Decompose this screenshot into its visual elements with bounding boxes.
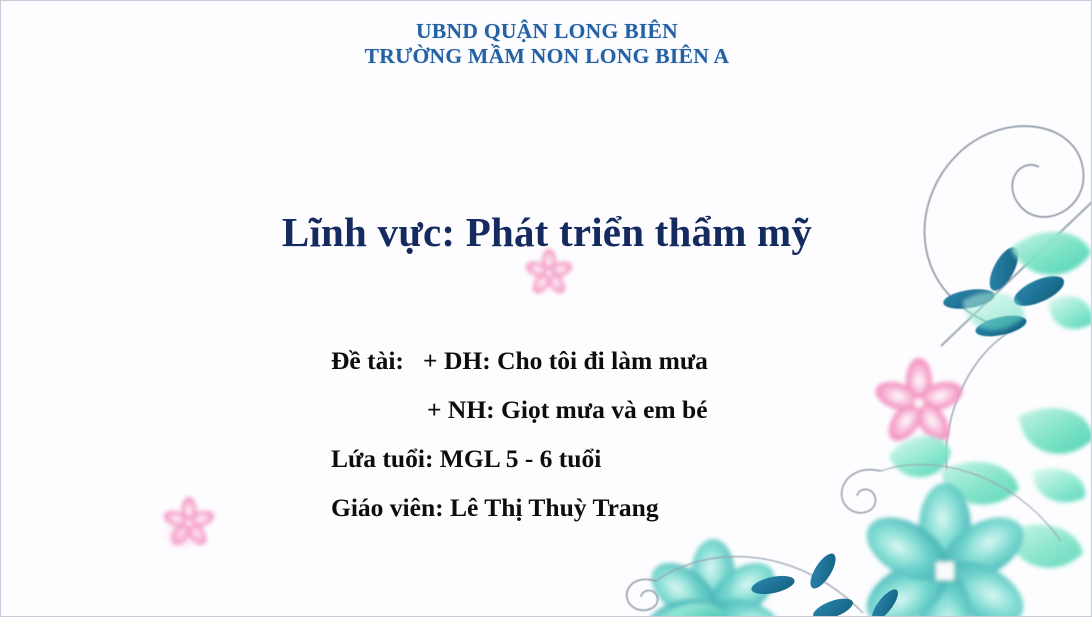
header-line-2: TRƯỜNG MẦM NON LONG BIÊN A bbox=[1, 44, 1092, 69]
slide-canvas: UBND QUẬN LONG BIÊN TRƯỜNG MẦM NON LONG … bbox=[0, 0, 1092, 617]
institution-header: UBND QUẬN LONG BIÊN TRƯỜNG MẦM NON LONG … bbox=[1, 19, 1092, 70]
slide-text-content: UBND QUẬN LONG BIÊN TRƯỜNG MẦM NON LONG … bbox=[1, 1, 1091, 616]
page-title: Lĩnh vực: Phát triển thẩm mỹ bbox=[1, 208, 1092, 256]
info-line-age-group: Lứa tuổi: MGL 5 - 6 tuổi bbox=[331, 435, 951, 484]
info-line-teacher: Giáo viên: Lê Thị Thuỳ Trang bbox=[331, 484, 951, 533]
header-line-1: UBND QUẬN LONG BIÊN bbox=[1, 19, 1092, 44]
info-line-topic-dh: Đề tài: + DH: Cho tôi đi làm mưa bbox=[331, 337, 951, 386]
lesson-info-block: Đề tài: + DH: Cho tôi đi làm mưa + NH: G… bbox=[331, 337, 951, 533]
info-line-topic-nh: + NH: Giọt mưa và em bé bbox=[331, 386, 951, 435]
